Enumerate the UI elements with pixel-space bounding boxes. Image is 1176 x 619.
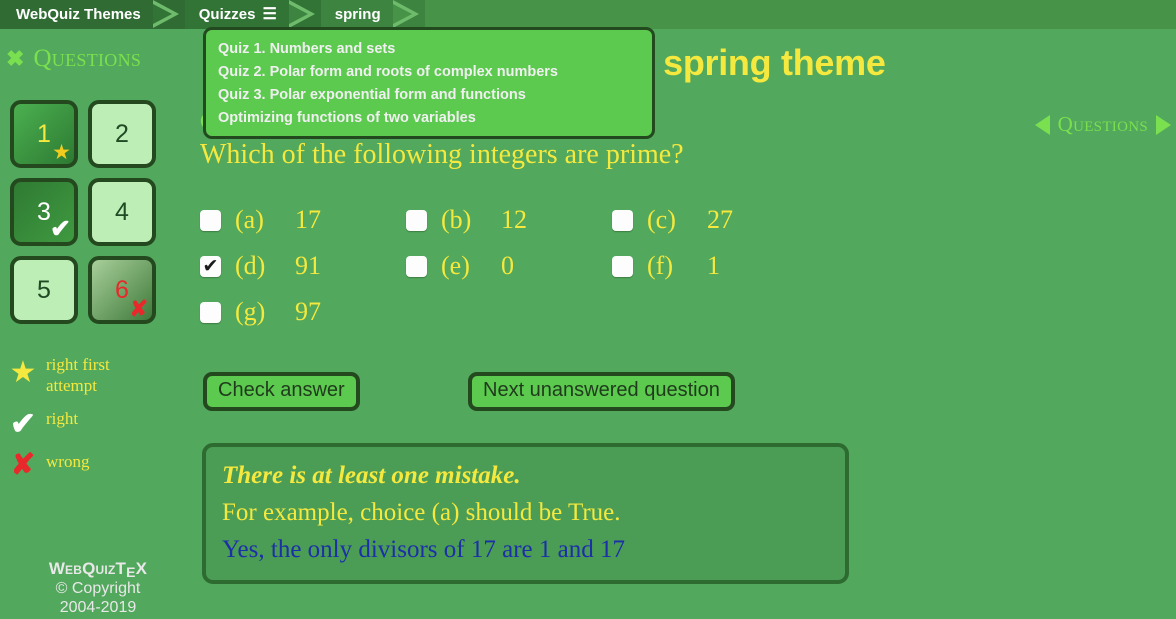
next-unanswered-question-button[interactable]: Next unanswered question (468, 372, 735, 411)
check-answer-button[interactable]: Check answer (203, 372, 360, 411)
feedback-line-mistake: There is at least one mistake. (222, 457, 829, 494)
legend-label: right (46, 408, 78, 429)
hamburger-icon[interactable]: ☰ (262, 7, 276, 23)
star-icon: ★ (52, 142, 71, 163)
choice-row: (a) 17 (b) 12 (c) 27 (200, 205, 820, 235)
breadcrumb-label: Quizzes (199, 6, 256, 23)
feedback-panel: There is at least one mistake. For examp… (202, 443, 849, 584)
choice-label: (f) (647, 251, 691, 281)
legend-item-right-first: ★ right first attempt (0, 354, 190, 396)
breadcrumb-item-themes[interactable]: WebQuiz Themes (0, 0, 151, 29)
legend-label: right first attempt (46, 354, 138, 396)
question-button-6[interactable]: 6 ✘ (88, 256, 156, 324)
choice-label: (c) (647, 205, 691, 235)
checkmark-icon: ✔ (203, 257, 219, 276)
sidebar-header: ✖ Questions (0, 29, 196, 73)
choice-label: (b) (441, 205, 485, 235)
choice-label: (d) (235, 251, 279, 281)
choice-g[interactable]: (g) 97 (200, 297, 406, 327)
feedback-line-explanation: Yes, the only divisors of 17 are 1 and 1… (222, 531, 829, 568)
breadcrumb-label: spring (335, 6, 381, 23)
legend-item-wrong: ✘ wrong (0, 451, 190, 480)
copyright-line: © Copyright (0, 579, 196, 598)
breadcrumb-separator-icon (391, 0, 425, 29)
checkbox-c[interactable] (612, 210, 633, 231)
choice-label: (a) (235, 205, 279, 235)
question-button-number: 2 (115, 120, 129, 149)
legend: ★ right first attempt ✔ right ✘ wrong (0, 354, 190, 480)
legend-item-right: ✔ right (0, 408, 190, 439)
choice-value: 17 (295, 205, 325, 235)
check-icon: ✔ (0, 408, 46, 439)
choice-row: ✔ (d) 91 (e) 0 (f) 1 (200, 251, 820, 281)
cross-icon: ✘ (0, 451, 46, 480)
breadcrumb: WebQuiz Themes Quizzes ☰ spring (0, 0, 1176, 29)
question-button-4[interactable]: 4 (88, 178, 156, 246)
choice-value: 12 (501, 205, 531, 235)
pager-label: Questions (1058, 112, 1148, 137)
checkbox-f[interactable] (612, 256, 633, 277)
choice-value: 97 (295, 297, 325, 327)
choices-list: (a) 17 (b) 12 (c) 27 ✔ (d) 91 (e) (200, 205, 820, 343)
checkbox-a[interactable] (200, 210, 221, 231)
close-x-icon[interactable]: ✖ (6, 48, 24, 70)
dropdown-item-quiz3[interactable]: Quiz 3. Polar exponential form and funct… (206, 83, 652, 106)
question-button-3[interactable]: 3 ✔ (10, 178, 78, 246)
sidebar-title: Questions (33, 45, 141, 73)
choice-value: 1 (707, 251, 737, 281)
check-icon: ✔ (50, 217, 71, 242)
checkbox-b[interactable] (406, 210, 427, 231)
choice-d[interactable]: ✔ (d) 91 (200, 251, 406, 281)
quizzes-dropdown-menu[interactable]: Quiz 1. Numbers and sets Quiz 2. Polar f… (203, 27, 655, 139)
choice-label: (e) (441, 251, 485, 281)
question-button-1[interactable]: 1 ★ (10, 100, 78, 168)
footer-credit: WebQuizTeX © Copyright 2004-2019 (0, 559, 196, 617)
dropdown-item-optimizing[interactable]: Optimizing functions of two variables (206, 106, 652, 129)
breadcrumb-label: WebQuiz Themes (16, 6, 141, 23)
dropdown-item-quiz2[interactable]: Quiz 2. Polar form and roots of complex … (206, 60, 652, 83)
breadcrumb-separator-icon (151, 0, 185, 29)
sidebar: ✖ Questions 1 ★ 2 3 ✔ 4 5 6 ✘ ★ right fi… (0, 29, 196, 619)
feedback-line-example: For example, choice (a) should be True. (222, 494, 829, 531)
question-button-number: 4 (115, 198, 129, 227)
question-button-number: 3 (37, 198, 51, 227)
choice-f[interactable]: (f) 1 (612, 251, 818, 281)
question-text: Which of the following integers are prim… (200, 139, 684, 171)
question-button-2[interactable]: 2 (88, 100, 156, 168)
choice-a[interactable]: (a) 17 (200, 205, 406, 235)
choice-e[interactable]: (e) 0 (406, 251, 612, 281)
choice-row: (g) 97 (200, 297, 820, 327)
breadcrumb-item-quizzes[interactable]: Quizzes ☰ (185, 0, 287, 29)
choice-value: 91 (295, 251, 325, 281)
legend-label: wrong (46, 451, 89, 472)
breadcrumb-separator-icon (287, 0, 321, 29)
question-button-number: 5 (37, 276, 51, 305)
cross-icon: ✘ (130, 298, 148, 320)
breadcrumb-tail (425, 0, 1176, 29)
question-button-grid: 1 ★ 2 3 ✔ 4 5 6 ✘ (10, 100, 162, 324)
checkbox-d[interactable]: ✔ (200, 256, 221, 277)
dropdown-item-quiz1[interactable]: Quiz 1. Numbers and sets (206, 37, 652, 60)
triangle-right-icon[interactable] (1156, 115, 1171, 135)
choice-label: (g) (235, 297, 279, 327)
checkbox-g[interactable] (200, 302, 221, 323)
copyright-years: 2004-2019 (0, 598, 196, 617)
choice-value: 0 (501, 251, 531, 281)
choice-b[interactable]: (b) 12 (406, 205, 612, 235)
breadcrumb-item-spring[interactable]: spring (321, 0, 391, 29)
checkbox-e[interactable] (406, 256, 427, 277)
question-button-5[interactable]: 5 (10, 256, 78, 324)
star-icon: ★ (0, 354, 46, 388)
choice-value: 27 (707, 205, 737, 235)
choice-c[interactable]: (c) 27 (612, 205, 818, 235)
brand-name: WebQuizTeX (0, 559, 196, 579)
question-button-number: 6 (115, 276, 129, 305)
question-button-number: 1 (37, 120, 51, 149)
question-pager: Questions (1035, 112, 1171, 137)
triangle-left-icon[interactable] (1035, 115, 1050, 135)
